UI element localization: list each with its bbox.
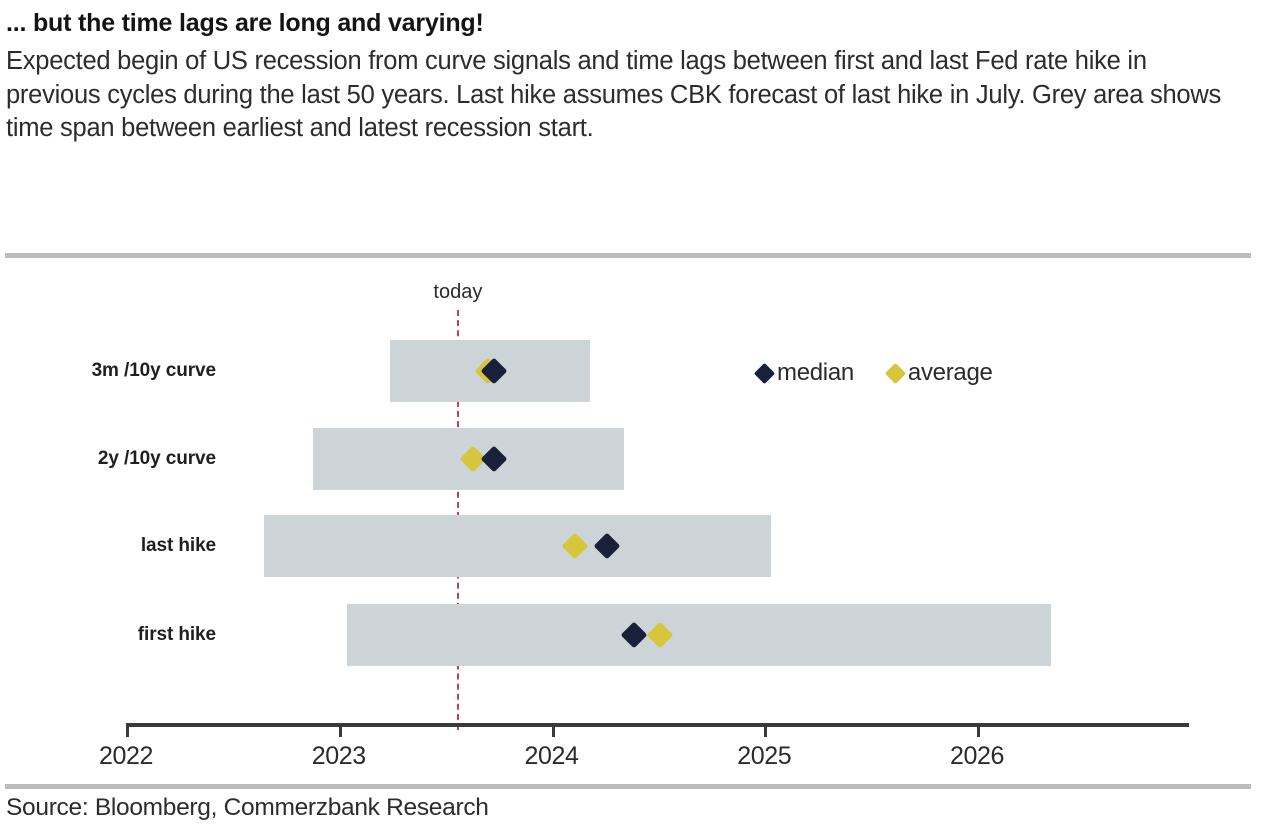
chart-row: last hike [0,515,1280,603]
row-label: first hike [0,624,216,646]
x-axis-tick-label: 2026 [950,742,1004,771]
diamond-icon [754,362,775,383]
x-axis-tick [764,723,767,737]
chart-row: first hike [0,604,1280,692]
legend-item-average[interactable]: average [888,359,993,387]
row-label: last hike [0,535,216,557]
x-axis-tick-label: 2023 [312,742,366,771]
legend-label: average [908,359,993,387]
diamond-icon [885,362,906,383]
chart-header: ... but the time lags are long and varyi… [0,0,1280,146]
chart-legend: medianaverage [757,359,993,387]
x-axis-tick [552,723,555,737]
legend-label: median [777,359,854,387]
x-axis-tick [126,723,129,737]
x-axis-line [126,723,1189,727]
x-axis-tick [339,723,342,737]
chart-row: 2y /10y curve [0,428,1280,516]
divider-bottom [5,784,1251,789]
source-note: Source: Bloomberg, Commerzbank Research [6,794,489,822]
chart-row: 3m /10y curve [0,340,1280,428]
page-title: ... but the time lags are long and varyi… [6,8,1280,38]
today-label: today [433,281,482,304]
legend-item-median[interactable]: median [757,359,854,387]
chart-plot-area: today 3m /10y curve2y /10y curvelast hik… [0,255,1280,775]
recession-range-band [264,515,770,577]
x-axis-tick-label: 2024 [524,742,578,771]
x-axis-tick-label: 2025 [737,742,791,771]
row-label: 3m /10y curve [0,360,216,382]
x-axis-tick-label: 2022 [99,742,153,771]
recession-range-band [347,604,1051,666]
x-axis-tick [977,723,980,737]
chart-subtitle: Expected begin of US recession from curv… [6,45,1236,146]
row-label: 2y /10y curve [0,448,216,470]
